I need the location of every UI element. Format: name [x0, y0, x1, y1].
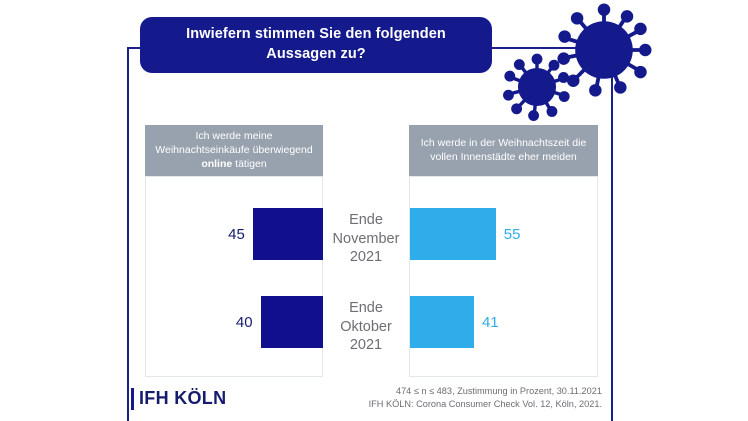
infographic-canvas: Inwiefern stimmen Sie den folgenden Auss…	[0, 0, 748, 421]
period-line-2: Oktober	[340, 319, 392, 335]
bar-right	[410, 296, 474, 348]
period-label: Ende Oktober 2021	[326, 299, 406, 355]
period-line-1: Ende	[349, 212, 383, 228]
period-line-1: Ende	[349, 300, 383, 316]
bar-row: 45	[215, 208, 323, 260]
bar-value-right: 41	[482, 315, 499, 330]
logo-accent-bar	[131, 388, 134, 410]
statement-left-pre: Ich werde meine Weihnachtseinkäufe überw…	[155, 130, 312, 156]
statement-left-post: tätigen	[232, 158, 266, 170]
bar-row: 55	[410, 208, 550, 260]
bar-value-right: 55	[504, 227, 521, 242]
bar-left	[253, 208, 323, 260]
period-line-3: 2021	[350, 337, 382, 353]
virus-icon	[503, 53, 571, 121]
period-line-2: November	[333, 231, 400, 247]
bar-row: 41	[410, 296, 550, 348]
period-line-3: 2021	[350, 249, 382, 265]
bar-value-left: 45	[228, 227, 245, 242]
title-line-1: Inwiefern stimmen Sie den folgenden	[186, 26, 446, 42]
statement-left-bold: online	[201, 158, 232, 170]
bar-row: 40	[215, 296, 323, 348]
bar-value-left: 40	[236, 315, 253, 330]
logo-ifh-koeln: IFH KÖLN	[139, 389, 226, 409]
source-line-1: 474 ≤ n ≤ 483, Zustimmung in Prozent, 30…	[396, 386, 602, 396]
source-note: 474 ≤ n ≤ 483, Zustimmung in Prozent, 30…	[330, 385, 602, 412]
statement-header-left: Ich werde meine Weihnachtseinkäufe überw…	[145, 125, 323, 177]
bar-left	[261, 296, 323, 348]
statement-right-text: Ich werde in der Weihnachtszeit die voll…	[415, 137, 592, 165]
source-line-2: IFH KÖLN: Corona Consumer Check Vol. 12,…	[369, 399, 602, 409]
statement-header-right: Ich werde in der Weihnachtszeit die voll…	[409, 125, 598, 177]
frame-line-right	[611, 47, 613, 421]
period-label: Ende November 2021	[326, 211, 406, 267]
frame-line-left	[127, 47, 129, 421]
bar-right	[410, 208, 496, 260]
title-text: Inwiefern stimmen Sie den folgenden Auss…	[186, 25, 446, 64]
title-banner: Inwiefern stimmen Sie den folgenden Auss…	[140, 17, 492, 73]
title-line-2: Aussagen zu?	[266, 46, 366, 62]
